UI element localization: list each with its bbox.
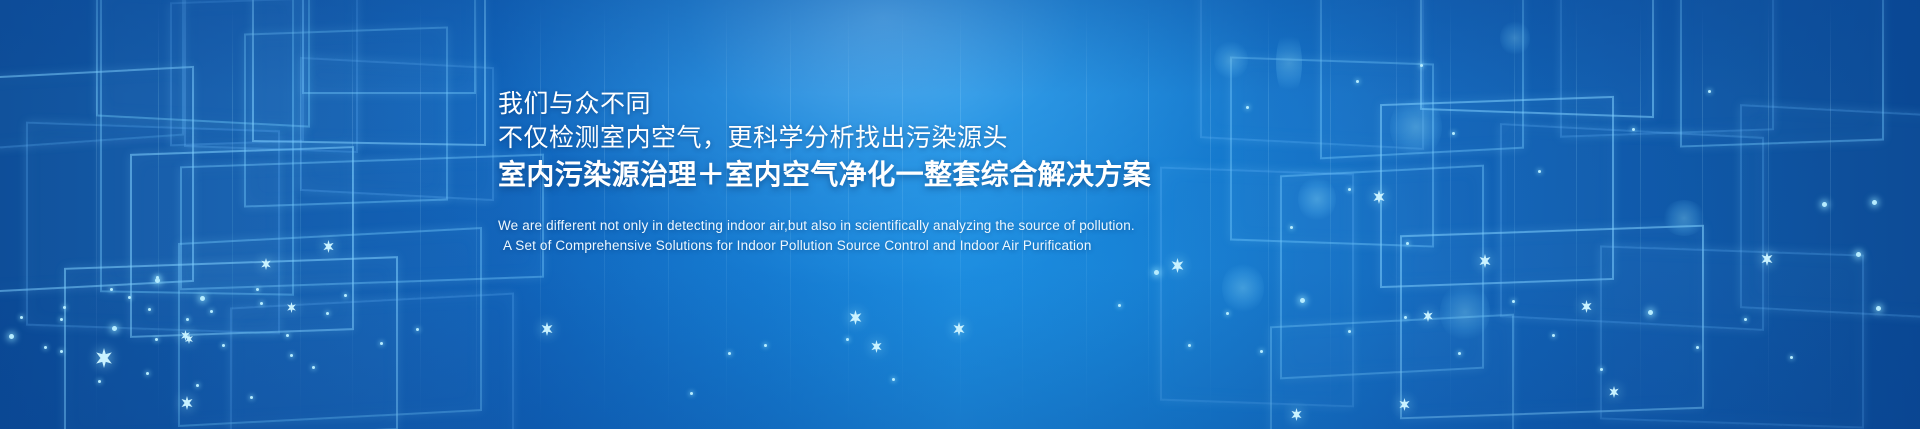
glow-dot (1790, 356, 1793, 359)
glow-dot (1118, 304, 1121, 307)
glow-dot (156, 276, 159, 279)
glow-dot (690, 392, 693, 395)
glow-dot (764, 344, 767, 347)
sparkle-star-icon (1580, 300, 1593, 313)
glow-dot (210, 310, 213, 313)
glow-dot (1356, 80, 1359, 83)
glow-dot (312, 366, 315, 369)
sparkle-star-icon (1608, 386, 1620, 398)
sparkle-star-icon (1290, 408, 1303, 421)
glow-dot (200, 296, 205, 301)
glow-dot (1404, 316, 1407, 319)
glow-dot (1632, 128, 1635, 131)
sparkle-star-icon (1760, 252, 1774, 266)
subtitle-line-1: We are different not only in detecting i… (498, 216, 1498, 236)
sparkle-star-icon (1170, 258, 1185, 273)
glow-dot (1822, 202, 1827, 207)
glow-dot (256, 288, 259, 291)
glow-dot (1226, 312, 1229, 315)
sparkle-star-icon (322, 240, 335, 253)
glow-dot (1648, 310, 1653, 315)
glow-dot (110, 288, 113, 291)
sparkle-star-icon (848, 310, 863, 325)
glow-dot (1600, 368, 1603, 371)
glow-dot (1188, 344, 1191, 347)
glow-dot (44, 346, 47, 349)
glow-dot (60, 350, 63, 353)
glow-dot (146, 372, 149, 375)
glow-dot (380, 342, 383, 345)
glow-dot (98, 380, 101, 383)
sparkle-star-icon (286, 302, 297, 313)
glow-dot (1512, 300, 1515, 303)
glow-dot (196, 384, 199, 387)
glow-dot (326, 312, 329, 315)
sparkle-star-icon (1398, 398, 1411, 411)
glow-dot (846, 338, 849, 341)
glow-dot (9, 334, 14, 339)
headline-line-1: 我们与众不同 (498, 88, 1498, 120)
sparkle-star-icon (952, 322, 966, 336)
glow-dot (286, 334, 289, 337)
glow-dot (20, 316, 23, 319)
sparkle-star-icon (540, 322, 554, 336)
glow-dot (1260, 350, 1263, 353)
glow-dot (186, 318, 189, 321)
sparkle-star-icon (870, 340, 883, 353)
subtitle-block: We are different not only in detecting i… (498, 216, 1498, 256)
sparkle-star-icon (260, 258, 272, 270)
sparkle-star-icon (1422, 310, 1434, 322)
glow-dot (1154, 270, 1159, 275)
headline-line-2: 不仅检测室内空气，更科学分析找出污染源头 (498, 122, 1498, 154)
glow-dot (148, 308, 151, 311)
glow-dot (290, 354, 293, 357)
glow-dot (1856, 252, 1861, 257)
hero-banner: 我们与众不同 不仅检测室内空气，更科学分析找出污染源头 室内污染源治理＋室内空气… (0, 0, 1920, 429)
glow-dot (1348, 330, 1351, 333)
glow-dot (60, 318, 63, 321)
glow-dot (260, 302, 263, 305)
glow-dot (1708, 90, 1711, 93)
subtitle-line-2: A Set of Comprehensive Solutions for Ind… (498, 236, 1498, 256)
glow-dot (1552, 334, 1555, 337)
glow-dot (344, 294, 347, 297)
glow-dot (112, 326, 117, 331)
glow-dot (728, 352, 731, 355)
glow-dot (1458, 352, 1461, 355)
glow-dot (155, 338, 158, 341)
glow-dot (1876, 306, 1881, 311)
glow-dot (1696, 346, 1699, 349)
glow-dot (1538, 170, 1541, 173)
glow-dot (250, 396, 253, 399)
glow-dot (63, 306, 66, 309)
headline-line-3: 室内污染源治理＋室内空气净化一整套综合解决方案 (498, 157, 1498, 193)
glow-dot (892, 378, 895, 381)
glow-dot (222, 344, 225, 347)
glow-dot (1300, 298, 1305, 303)
glow-dot (1420, 64, 1423, 67)
banner-copy: 我们与众不同 不仅检测室内空气，更科学分析找出污染源头 室内污染源治理＋室内空气… (498, 88, 1498, 256)
sparkle-star-icon (1478, 254, 1492, 268)
sparkle-star-icon (184, 334, 194, 344)
sparkle-star-icon (94, 348, 114, 368)
glow-dot (128, 296, 131, 299)
sparkle-star-icon (180, 396, 194, 410)
glow-dot (416, 328, 419, 331)
glow-dot (1872, 200, 1877, 205)
glow-dot (1744, 318, 1747, 321)
